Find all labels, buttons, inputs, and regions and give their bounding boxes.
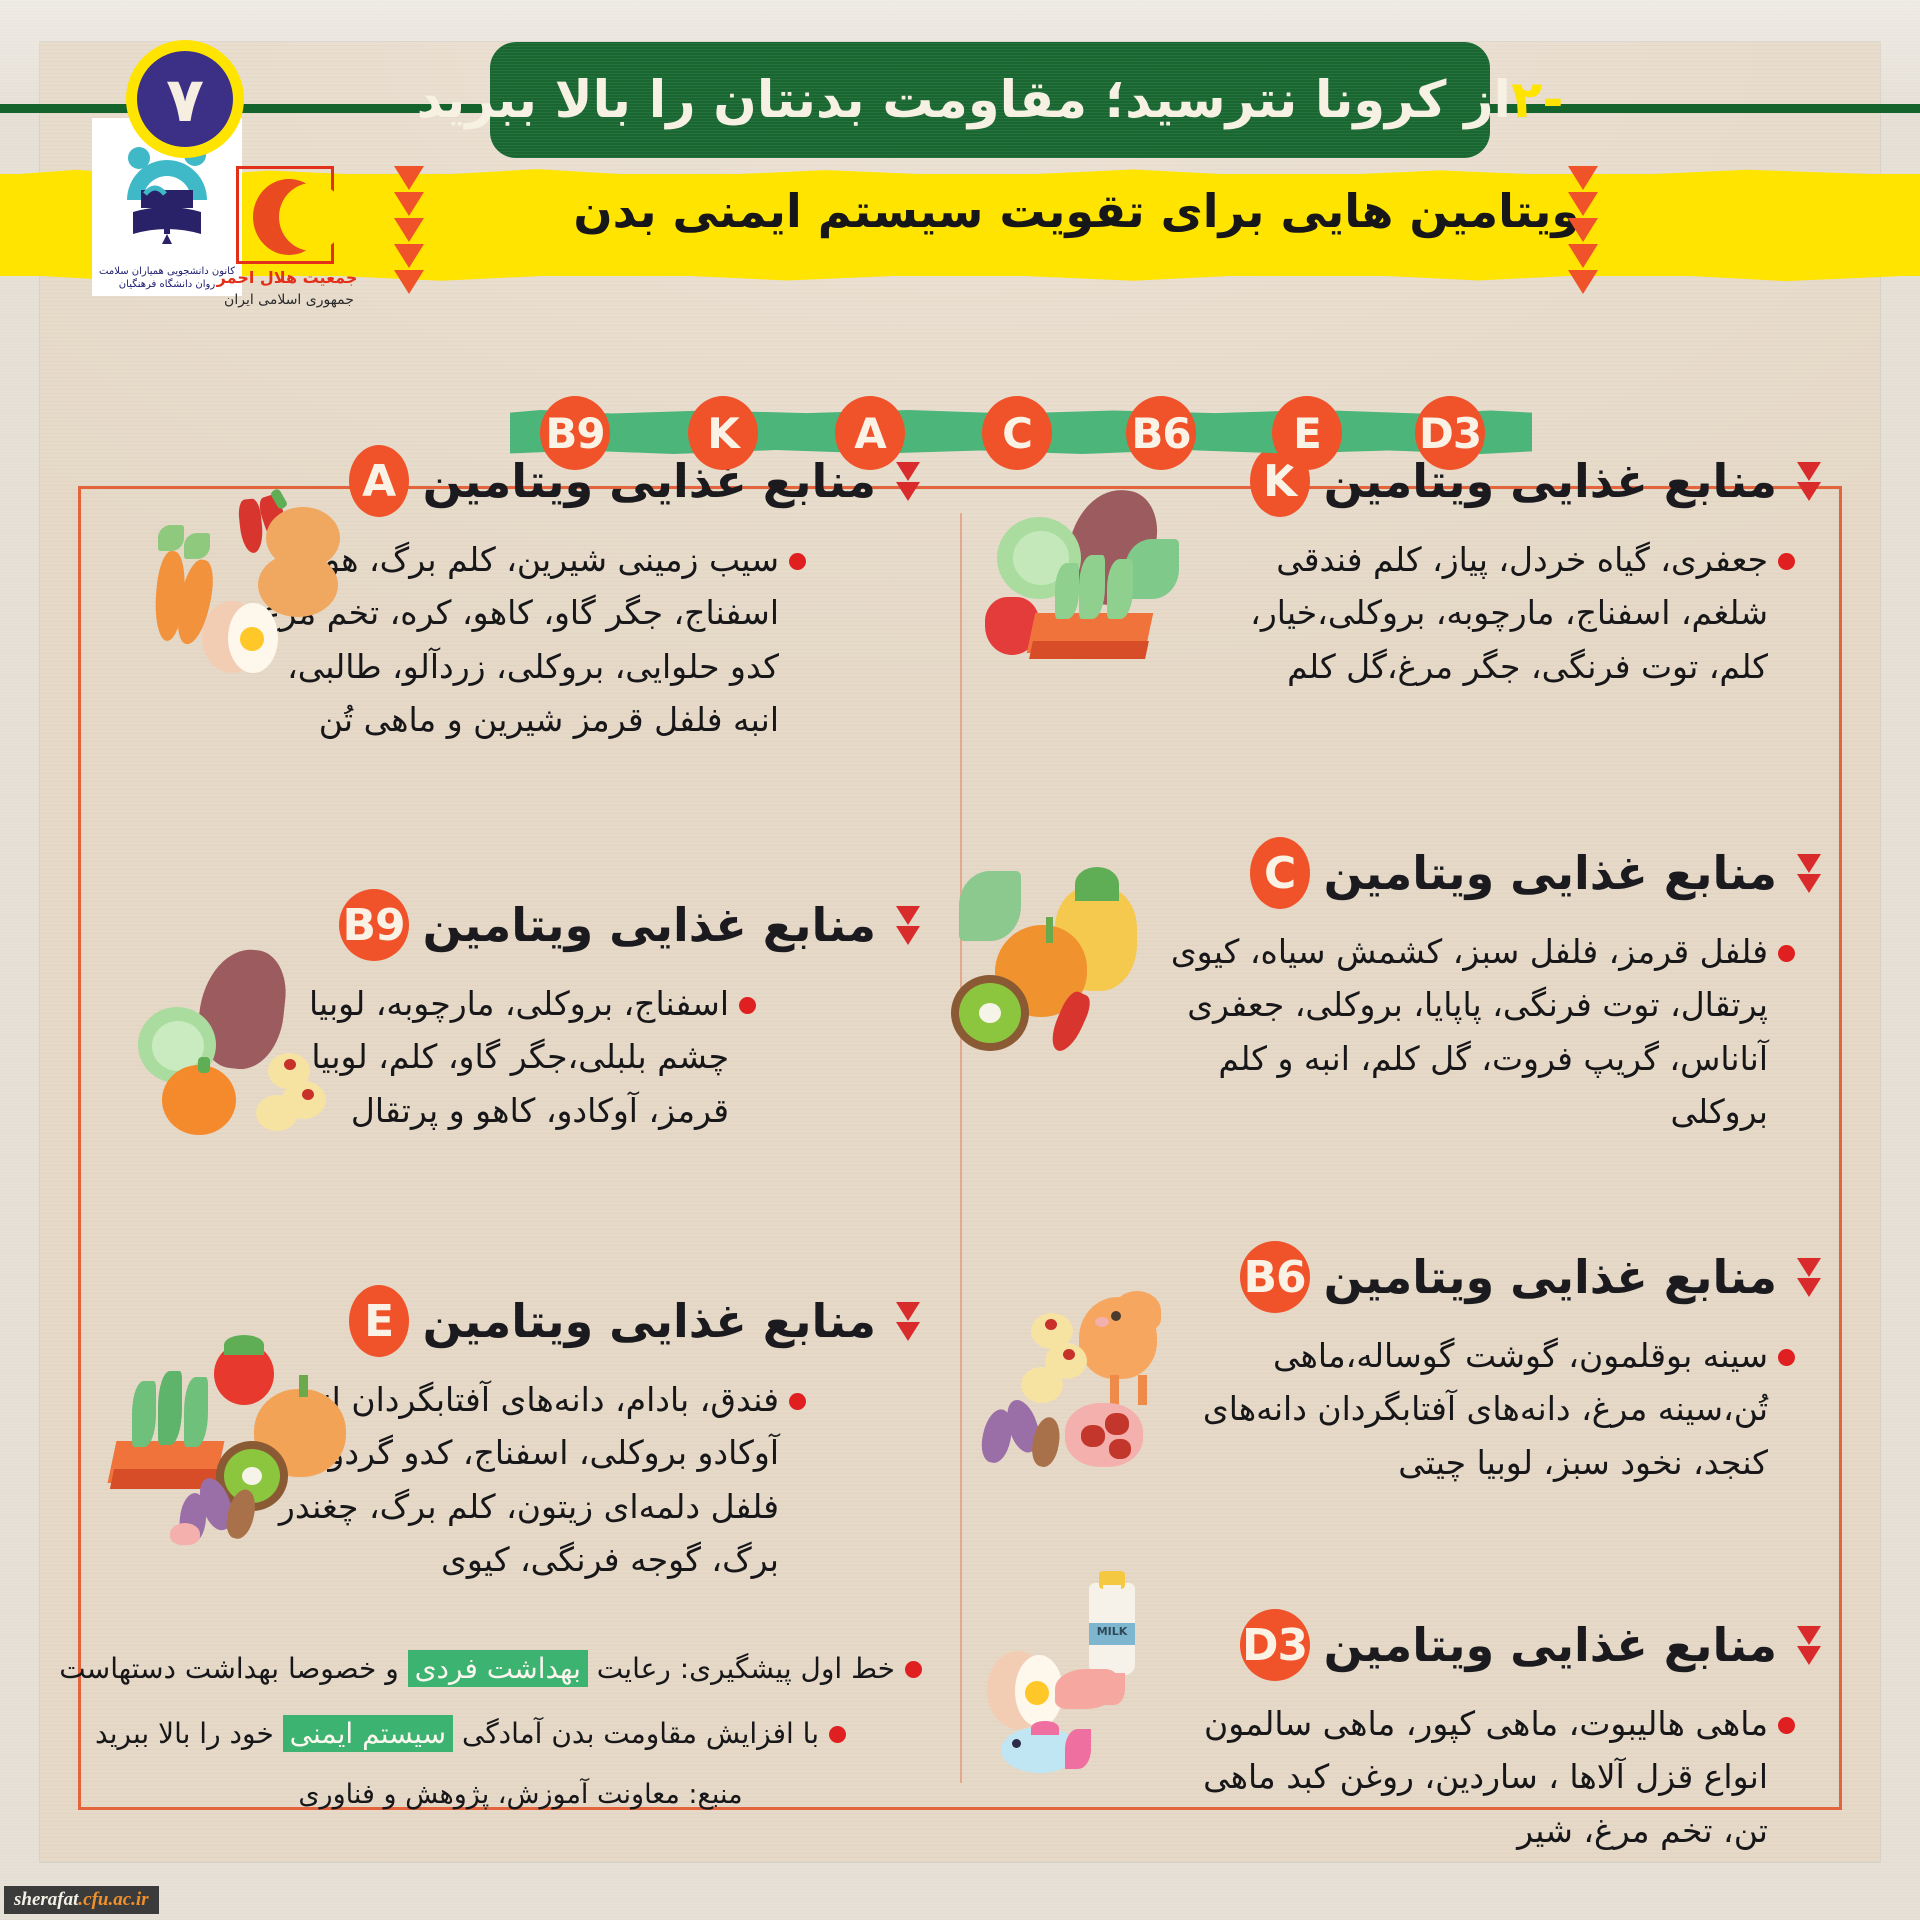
chevron-down-icon	[1568, 166, 1598, 190]
section-k-body: جعفری، گیاه خردل، پیاز، کلم فندقی شلغم، …	[960, 533, 1839, 693]
section-k-text: جعفری، گیاه خردل، پیاز، کلم فندقی شلغم، …	[1208, 533, 1768, 693]
note-1-part1: خط اول پیشگیری: رعایت	[588, 1652, 895, 1685]
header-title-text: از کرونا نترسید؛ مقاومت بدنتان را بالا ب…	[417, 71, 1511, 130]
note-1-part2: و خصوصا بهداشت دستهاست	[59, 1652, 407, 1685]
section-d3-body: ماهی هالیبوت، ماهی کپور، ماهی سالمون انو…	[960, 1697, 1839, 1857]
vitamin-badge-k[interactable]: K	[688, 396, 758, 470]
section-b9-title: منابع غذایی ویتامین	[423, 898, 876, 952]
crescent-icon	[253, 179, 325, 255]
right-column: منابع غذایی ویتامین K جعفری، گیاه خردل، …	[960, 489, 1839, 1807]
section-e-header: منابع غذایی ویتامین E	[81, 1285, 960, 1357]
site-watermark: sherafat.cfu.ac.ir	[4, 1886, 159, 1914]
section-c-chevrons	[1797, 854, 1821, 893]
section-b9-header: منابع غذایی ویتامین B9	[81, 889, 960, 961]
note-1-text: خط اول پیشگیری: رعایت بهداشت فردی و خصوص…	[59, 1649, 895, 1688]
section-vitamin-b9: منابع غذایی ویتامین B9 اسفناج، بروکلی، م…	[81, 889, 960, 1137]
note-2-text: با افزایش مقاومت بدن آمادگی سیستم ایمنی …	[95, 1714, 819, 1753]
chevron-down-icon	[896, 1322, 920, 1341]
left-column: منابع غذایی ویتامین A سیب زمینی شیرین، ک…	[81, 489, 960, 1807]
section-e-body: فندق، بادام، دانه‌های آفتابگردان انبه، آ…	[81, 1373, 960, 1587]
note-2-part2: خود را بالا ببرید	[95, 1717, 283, 1750]
chevron-down-icon	[1568, 218, 1598, 242]
chevron-down-icon	[896, 906, 920, 925]
chevron-down-icon	[896, 482, 920, 501]
band-subtitle: ویتامین هایی برای تقویت سیستم ایمنی بدن	[573, 184, 1580, 238]
section-vitamin-c: منابع غذایی ویتامین C فلفل قرمز، فلفل سب…	[960, 837, 1839, 1139]
chevron-column-left	[394, 166, 424, 294]
vitamin-strip: B9 K A C B6 E D3	[0, 396, 1920, 470]
section-e-chevrons	[896, 1302, 920, 1341]
chevron-down-icon	[394, 166, 424, 190]
bullet-icon	[739, 997, 756, 1014]
header-title-pill: -۲از کرونا نترسید؛ مقاومت بدنتان را بالا…	[490, 42, 1490, 158]
section-a-text: سیب زمینی شیرین، کلم برگ، هویج اسفناج، ج…	[239, 533, 779, 747]
section-d3-chevrons	[1797, 1626, 1821, 1665]
section-d3-text: ماهی هالیبوت، ماهی کپور، ماهی سالمون انو…	[1168, 1697, 1768, 1857]
header-title-number: -۲	[1511, 71, 1563, 130]
vitamin-badge-b6[interactable]: B6	[1126, 396, 1196, 470]
bullet-icon	[789, 1393, 806, 1410]
chevron-down-icon	[1797, 1278, 1821, 1297]
note-row-1: خط اول پیشگیری: رعایت بهداشت فردی و خصوص…	[101, 1649, 940, 1688]
vitamin-badge-e[interactable]: E	[1272, 396, 1342, 470]
section-d3-header: منابع غذایی ویتامین D3	[960, 1609, 1839, 1681]
chevron-down-icon	[1797, 482, 1821, 501]
section-b6-chevrons	[1797, 1258, 1821, 1297]
chevron-down-icon	[1568, 192, 1598, 216]
red-crescent-name: جمعیت هلال احمر	[212, 268, 362, 287]
section-b6-header: منابع غذایی ویتامین B6	[960, 1241, 1839, 1313]
chevron-down-icon	[1797, 874, 1821, 893]
section-vitamin-d3: منابع غذایی ویتامین D3 ماهی هالیبوت، ماه…	[960, 1609, 1839, 1857]
chevron-down-icon	[1568, 270, 1598, 294]
section-b9-body: اسفناج، بروکلی، مارچوبه، لوبیا چشم بلبلی…	[81, 977, 960, 1137]
bullet-icon	[789, 553, 806, 570]
chevron-down-icon	[1797, 1626, 1821, 1645]
vitamin-badge-a[interactable]: A	[835, 396, 905, 470]
bullet-icon	[1778, 1717, 1795, 1734]
section-e-title: منابع غذایی ویتامین	[423, 1294, 876, 1348]
section-b9-letter-badge: B9	[339, 889, 409, 961]
chevron-down-icon	[394, 218, 424, 242]
section-c-header: منابع غذایی ویتامین C	[960, 837, 1839, 909]
section-c-letter-badge: C	[1250, 837, 1310, 909]
note-row-2: با افزایش مقاومت بدن آمادگی سیستم ایمنی …	[101, 1714, 940, 1753]
bullet-icon	[1778, 945, 1795, 962]
section-c-text: فلفل قرمز، فلفل سبز، کشمش سیاه، کیوی پرت…	[1168, 925, 1768, 1139]
chevron-down-icon	[394, 192, 424, 216]
bullet-icon	[1778, 1349, 1795, 1366]
source-line: منبع: معاونت آموزش، پژوهش و فناوری	[101, 1779, 940, 1810]
section-b6-title: منابع غذایی ویتامین	[1324, 1250, 1777, 1304]
section-vitamin-b6: منابع غذایی ویتامین B6 سینه بوقلمون، گوش…	[960, 1241, 1839, 1489]
section-c-body: فلفل قرمز، فلفل سبز، کشمش سیاه، کیوی پرت…	[960, 925, 1839, 1139]
section-b6-body: سینه بوقلمون، گوشت گوساله،ماهی تُن،سینه …	[960, 1329, 1839, 1489]
section-d3-title: منابع غذایی ویتامین	[1324, 1618, 1777, 1672]
section-c-title: منابع غذایی ویتامین	[1324, 846, 1777, 900]
section-vitamin-a: منابع غذایی ویتامین A سیب زمینی شیرین، ک…	[81, 445, 960, 747]
section-e-letter-badge: E	[349, 1285, 409, 1357]
chevron-down-icon	[1797, 854, 1821, 873]
vitamin-badge-b9[interactable]: B9	[540, 396, 610, 470]
chevron-column-right	[1568, 166, 1598, 294]
vitamin-badge-d3[interactable]: D3	[1415, 396, 1485, 470]
chevron-down-icon	[1568, 244, 1598, 268]
note-2-part1: با افزایش مقاومت بدن آمادگی	[453, 1717, 819, 1750]
watermark-domain: .cfu.ac.ir	[78, 1889, 148, 1910]
chevron-down-icon	[1797, 1646, 1821, 1665]
section-vitamin-k: منابع غذایی ویتامین K جعفری، گیاه خردل، …	[960, 445, 1839, 693]
section-a-body: سیب زمینی شیرین، کلم برگ، هویج اسفناج، ج…	[81, 533, 960, 747]
chevron-down-icon	[896, 1302, 920, 1321]
section-b6-letter-badge: B6	[1240, 1241, 1310, 1313]
red-crescent-subtitle: جمهوری اسلامی ایران	[204, 292, 374, 308]
section-b9-text: اسفناج، بروکلی، مارچوبه، لوبیا چشم بلبلی…	[259, 977, 729, 1137]
red-crescent-logo	[236, 166, 334, 264]
note-1-highlight: بهداشت فردی	[408, 1650, 588, 1687]
page-background: -۲از کرونا نترسید؛ مقاومت بدنتان را بالا…	[0, 0, 1920, 1920]
vitamin-badge-c[interactable]: C	[982, 396, 1052, 470]
section-b6-text: سینه بوقلمون، گوشت گوساله،ماهی تُن،سینه …	[1168, 1329, 1768, 1489]
chevron-down-icon	[394, 244, 424, 268]
footer-notes: خط اول پیشگیری: رعایت بهداشت فردی و خصوص…	[101, 1649, 940, 1810]
chevron-down-icon	[394, 270, 424, 294]
section-e-text: فندق، بادام، دانه‌های آفتابگردان انبه، آ…	[249, 1373, 779, 1587]
bullet-icon	[905, 1661, 922, 1678]
note-2-highlight: سیستم ایمنی	[283, 1715, 453, 1752]
bullet-icon	[829, 1726, 846, 1743]
watermark-name: sherafat	[14, 1889, 78, 1910]
chevron-down-icon	[896, 926, 920, 945]
section-d3-letter-badge: D3	[1240, 1609, 1310, 1681]
section-b9-chevrons	[896, 906, 920, 945]
bullet-icon	[1778, 553, 1795, 570]
page-number-badge: ۷	[126, 40, 244, 158]
section-vitamin-e: منابع غذایی ویتامین E فندق، بادام، دانه‌…	[81, 1285, 960, 1587]
chevron-down-icon	[1797, 1258, 1821, 1277]
main-content-card: منابع غذایی ویتامین K جعفری، گیاه خردل، …	[78, 486, 1842, 1810]
